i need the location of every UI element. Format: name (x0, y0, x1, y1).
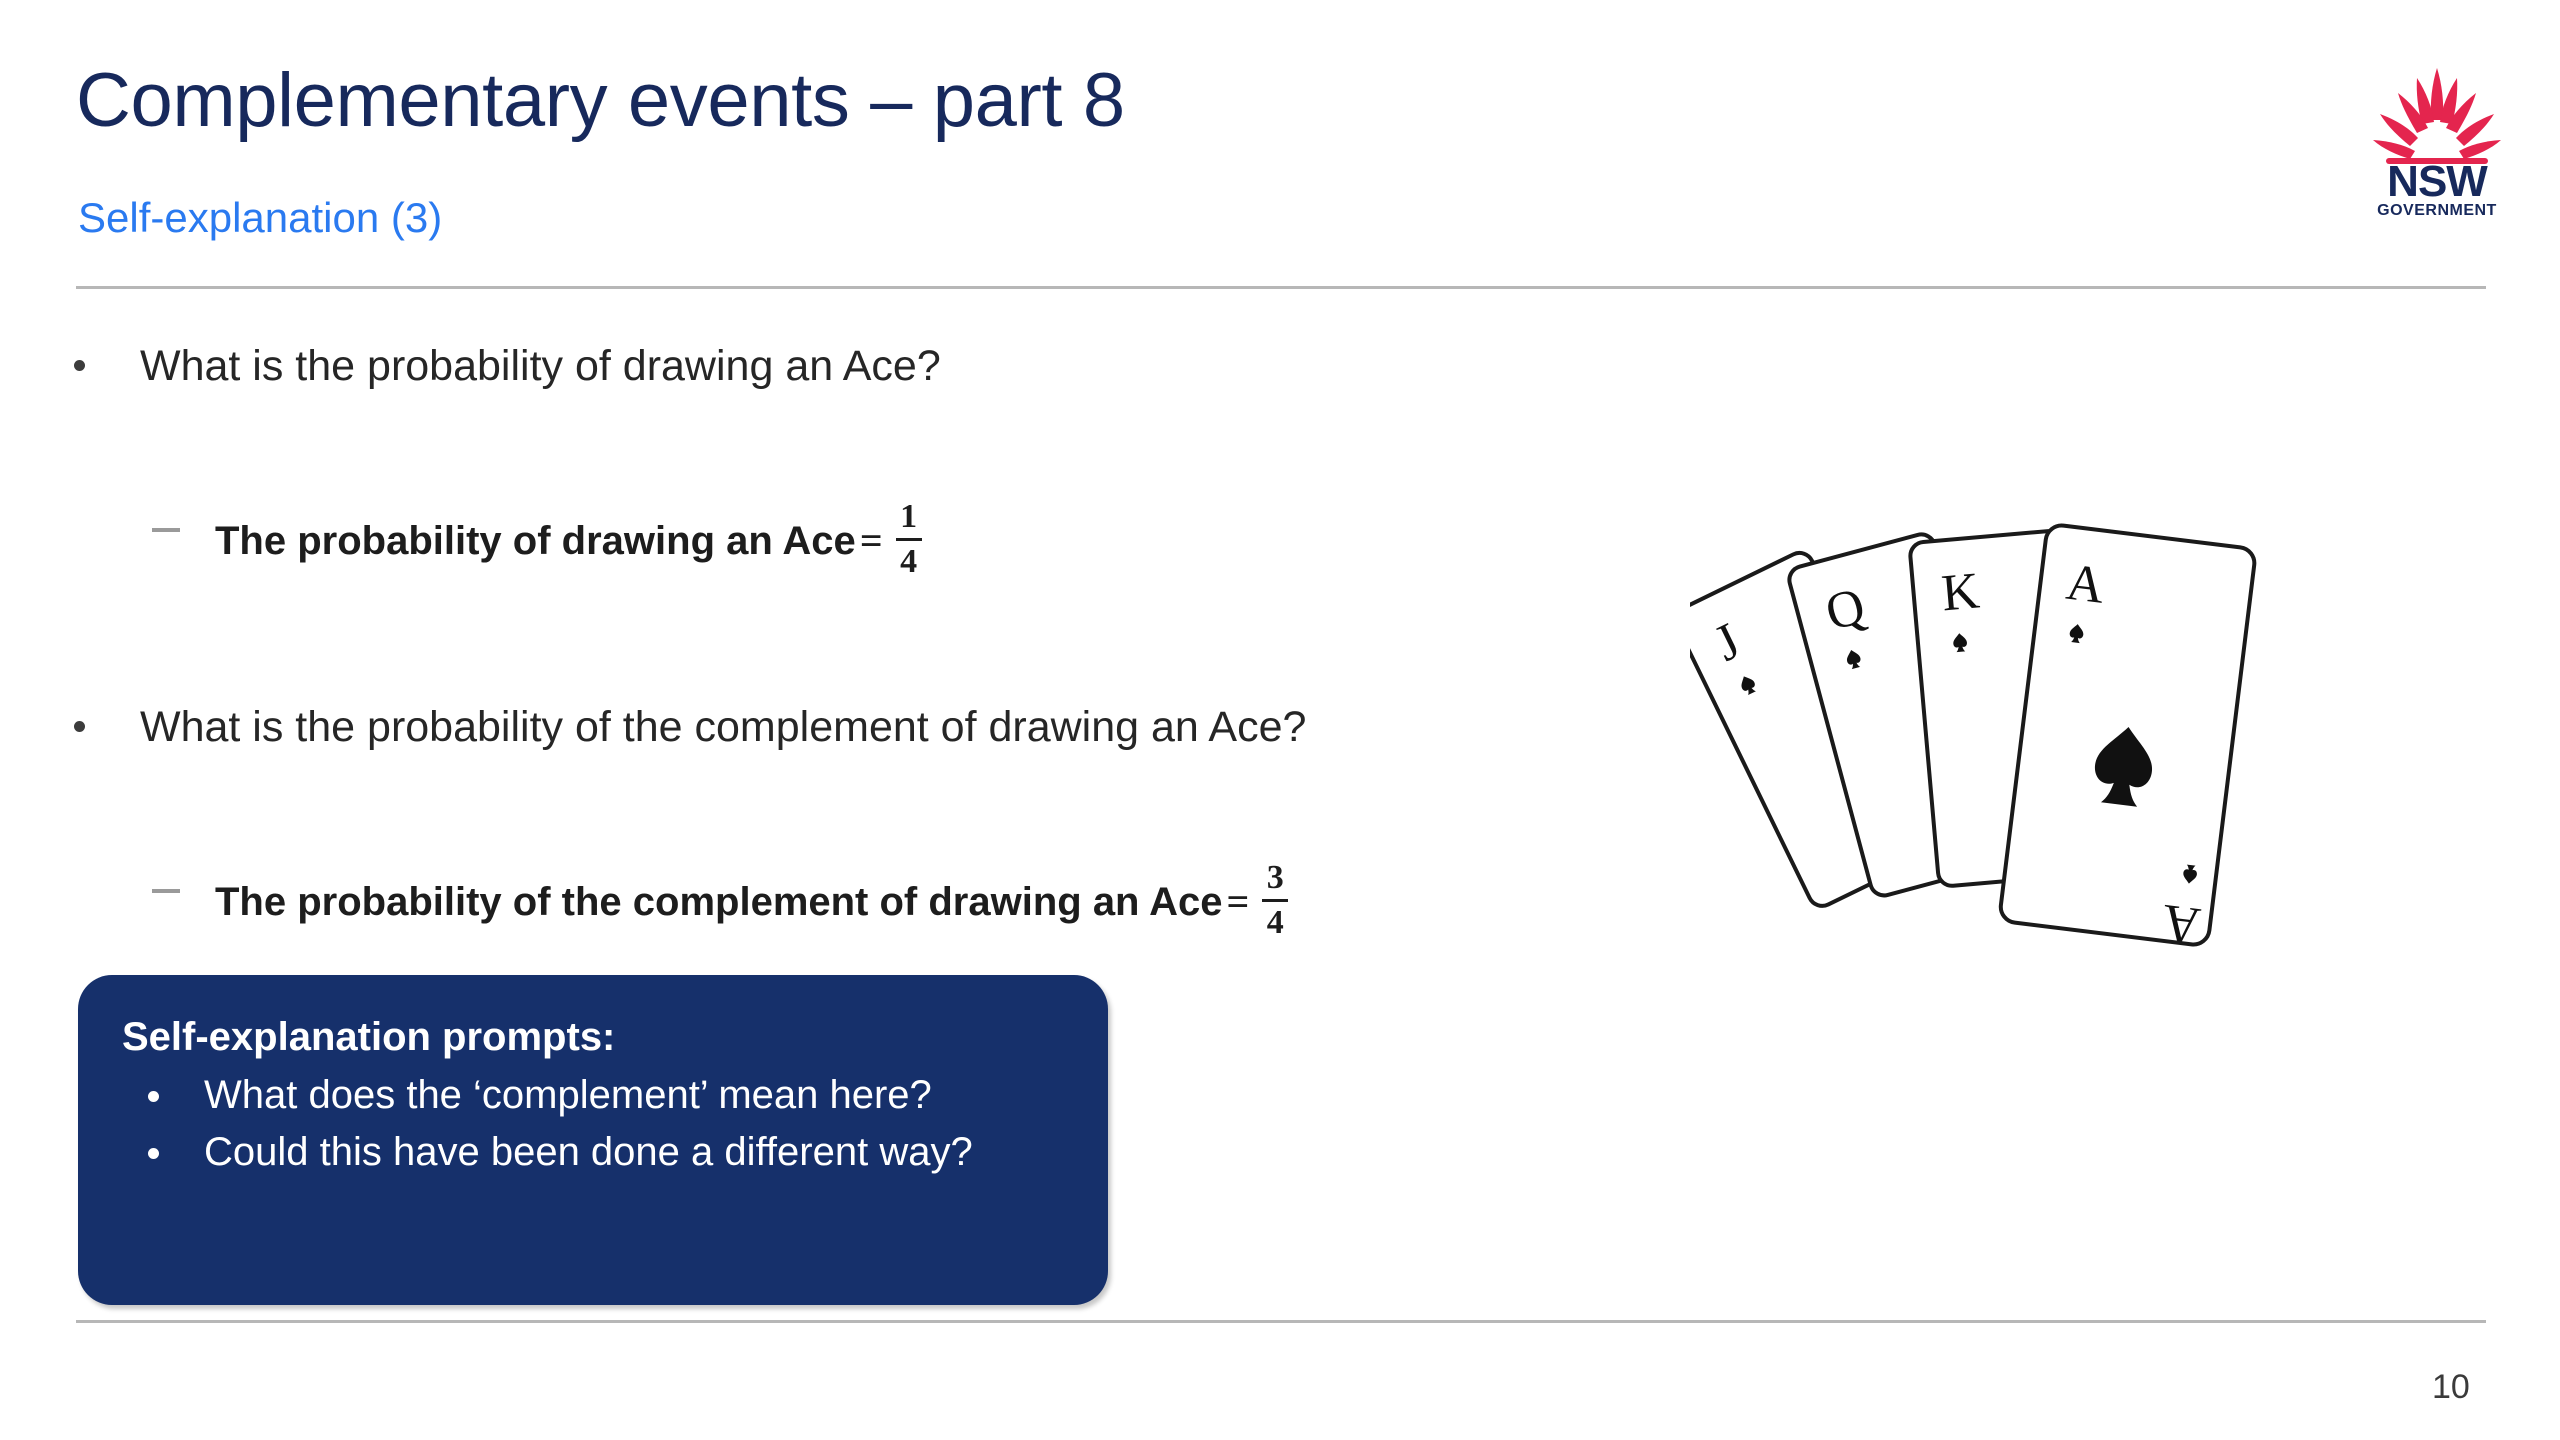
fraction-numerator: 1 (900, 500, 917, 536)
list-item: What is the probability of drawing an Ac… (0, 340, 1620, 394)
fraction-bar (896, 538, 922, 541)
page-subtitle: Self-explanation (3) (78, 196, 442, 240)
svg-text:A: A (2063, 554, 2108, 615)
content-body: What is the probability of drawing an Ac… (0, 340, 1620, 942)
equals-sign: = (1227, 877, 1250, 927)
page-number: 10 (2432, 1368, 2470, 1407)
svg-text:A: A (2159, 893, 2204, 954)
header-divider (76, 286, 2486, 289)
self-explanation-prompts-box: Self-explanation prompts: What does the … (78, 975, 1108, 1305)
page-title: Complementary events – part 8 (76, 62, 1125, 140)
bullet-dot-icon (74, 721, 85, 732)
fraction: 1 4 (896, 500, 922, 579)
prompt-box-title: Self-explanation prompts: (122, 1013, 1064, 1061)
fraction: 3 4 (1262, 861, 1288, 940)
question-text: What is the probability of drawing an Ac… (140, 342, 941, 390)
svg-text:GOVERNMENT: GOVERNMENT (2377, 202, 2497, 219)
slide-canvas: Complementary events – part 8 Self-expla… (0, 0, 2560, 1440)
list-item: The probability of drawing an Ace = 1 4 (0, 502, 1620, 581)
list-item: What does the ‘complement’ mean here? (122, 1071, 1064, 1120)
answer-text: The probability of drawing an Ace (215, 516, 856, 566)
svg-text:NSW: NSW (2387, 157, 2488, 206)
dash-bullet-icon (152, 889, 180, 893)
fraction-numerator: 3 (1267, 861, 1284, 897)
prompt-text: Could this have been done a different wa… (204, 1130, 973, 1174)
nsw-government-logo: NSW GOVERNMENT (2362, 62, 2512, 222)
fraction-denominator: 4 (900, 543, 917, 579)
playing-cards-illustration: J Q K A (1690, 455, 2310, 965)
bullet-dot-icon (148, 1148, 159, 1159)
list-item: Could this have been done a different wa… (122, 1128, 1064, 1177)
equals-sign: = (860, 516, 883, 566)
dash-bullet-icon (152, 528, 180, 532)
fraction-bar (1262, 899, 1288, 902)
list-item: What is the probability of the complemen… (0, 701, 1620, 755)
question-text: What is the probability of the complemen… (140, 703, 1306, 751)
svg-text:K: K (1939, 562, 1982, 622)
bullet-dot-icon (148, 1091, 159, 1102)
prompt-text: What does the ‘complement’ mean here? (204, 1073, 932, 1117)
answer-text: The probability of the complement of dra… (215, 877, 1223, 927)
footer-divider (76, 1320, 2486, 1323)
fraction-denominator: 4 (1267, 904, 1284, 940)
bullet-dot-icon (74, 360, 85, 371)
list-item: The probability of the complement of dra… (0, 863, 1620, 942)
